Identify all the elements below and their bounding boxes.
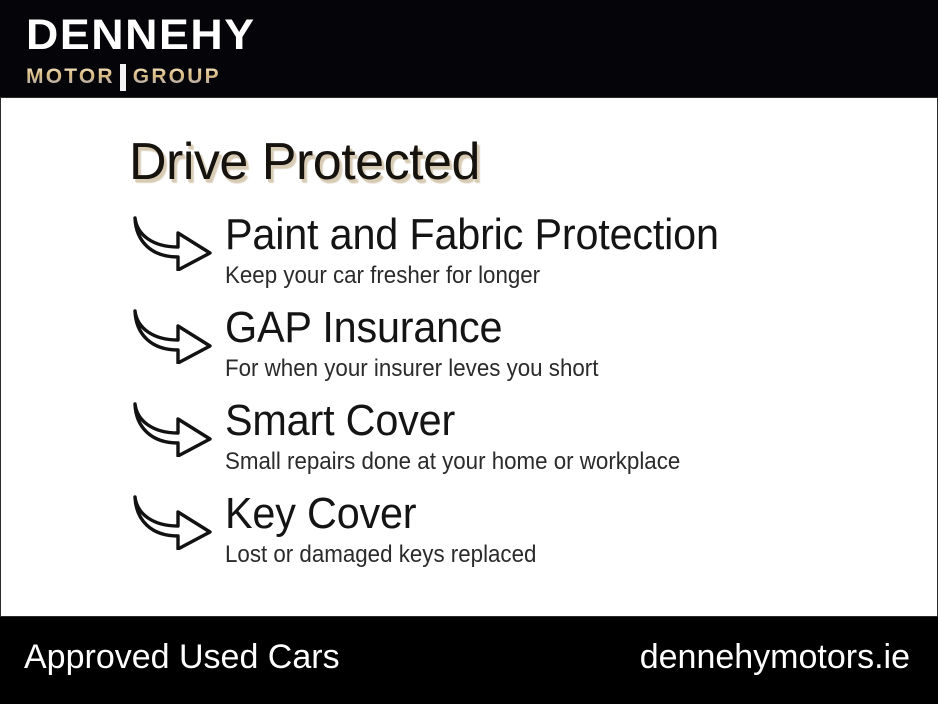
feature-subtext: Lost or damaged keys replaced: [225, 541, 536, 569]
curved-arrow-right-icon: [131, 308, 215, 364]
approved-used-cars-label: Approved Used Cars: [24, 637, 340, 677]
dennehy-motor-group-logo: DENNEHY MOTOR GROUP: [26, 14, 241, 90]
feature-subtext: For when your insurer leves you short: [225, 355, 598, 383]
footer-bar: Approved Used Cars dennehymotors.ie: [0, 617, 938, 704]
curved-arrow-right-icon: [131, 215, 215, 271]
curved-arrow-right-icon: [131, 401, 215, 457]
header-bar: DENNEHY MOTOR GROUP: [0, 0, 938, 97]
feature-list: Paint and Fabric Protection Keep your ca…: [1, 211, 938, 583]
feature-subtext: Keep your car fresher for longer: [225, 262, 540, 290]
logo-subtitle-group: GROUP: [133, 65, 221, 88]
feature-heading: Paint and Fabric Protection: [225, 209, 719, 261]
logo-divider-bar: [120, 64, 126, 91]
curved-arrow-right-icon: [131, 494, 215, 550]
feature-heading: Smart Cover: [225, 395, 455, 447]
list-item: GAP Insurance For when your insurer leve…: [1, 304, 938, 397]
feature-subtext: Small repairs done at your home or workp…: [225, 448, 680, 476]
website-url-label: dennehymotors.ie: [640, 637, 910, 677]
feature-heading: GAP Insurance: [225, 302, 502, 354]
logo-subtitle-motor: MOTOR: [26, 65, 115, 88]
feature-heading: Key Cover: [225, 488, 416, 540]
drive-protected-poster: DENNEHY MOTOR GROUP Drive Protected Pain…: [0, 0, 938, 704]
page-title: Drive Protected: [129, 134, 480, 190]
list-item: Smart Cover Small repairs done at your h…: [1, 397, 938, 490]
logo-subtitle: MOTOR GROUP: [26, 63, 241, 90]
list-item: Key Cover Lost or damaged keys replaced: [1, 490, 938, 583]
logo-wordmark: DENNEHY: [26, 14, 250, 57]
list-item: Paint and Fabric Protection Keep your ca…: [1, 211, 938, 304]
content-panel: Drive Protected Paint and Fabric Protect…: [0, 97, 938, 617]
